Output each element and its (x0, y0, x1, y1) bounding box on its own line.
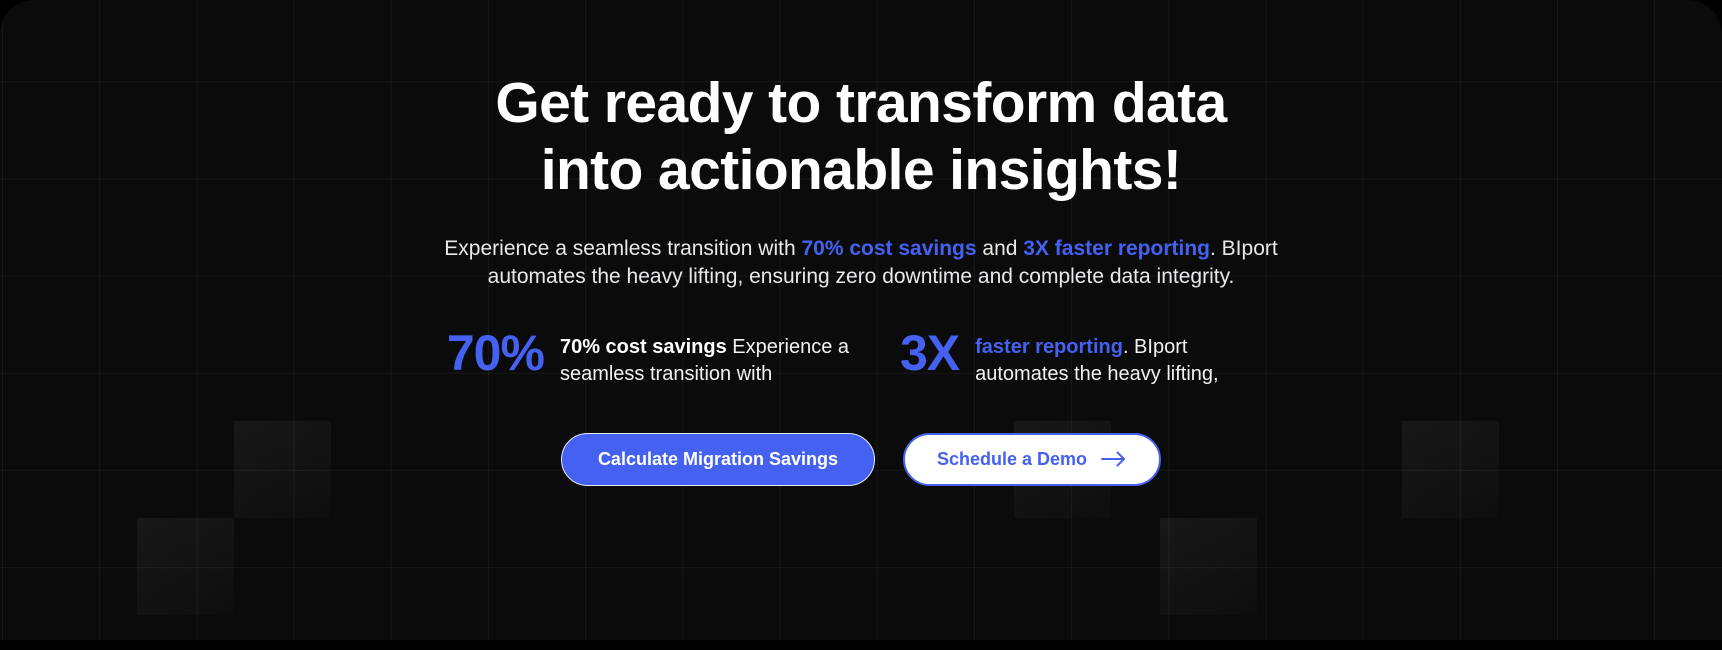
subheading-part-2: and (977, 237, 1024, 260)
stat-item: 70% 70% cost savings Experience a seamle… (447, 327, 860, 389)
headline-line-2: into actionable insights! (495, 137, 1226, 204)
stat-lead: faster reporting (975, 336, 1123, 358)
secondary-button-label: Schedule a Demo (937, 449, 1087, 470)
subheading-accent-reporting: 3X faster reporting (1023, 237, 1210, 260)
subheading-part-1: Experience a seamless transition with (444, 237, 801, 260)
stat-value: 3X (900, 327, 959, 380)
primary-button-label: Calculate Migration Savings (598, 449, 838, 470)
cta-button-row: Calculate Migration Savings Schedule a D… (561, 433, 1161, 486)
cta-hero-section: Get ready to transform data into actiona… (0, 0, 1722, 650)
page-title: Get ready to transform data into actiona… (495, 70, 1226, 205)
calculate-migration-savings-button[interactable]: Calculate Migration Savings (561, 433, 875, 486)
stat-description: faster reporting. BIport automates the h… (975, 327, 1275, 389)
stat-lead: 70% cost savings (560, 336, 727, 358)
hero-subheading: Experience a seamless transition with 70… (411, 235, 1311, 291)
hero-content: Get ready to transform data into actiona… (0, 0, 1722, 650)
arrow-right-icon (1101, 450, 1127, 468)
stat-item: 3X faster reporting. BIport automates th… (900, 327, 1275, 389)
stat-description: 70% cost savings Experience a seamless t… (560, 327, 860, 389)
stats-row: 70% 70% cost savings Experience a seamle… (447, 327, 1275, 389)
subheading-accent-savings: 70% cost savings (801, 237, 976, 260)
stat-value: 70% (447, 327, 544, 380)
schedule-demo-button[interactable]: Schedule a Demo (903, 433, 1161, 486)
headline-line-1: Get ready to transform data (495, 70, 1226, 137)
